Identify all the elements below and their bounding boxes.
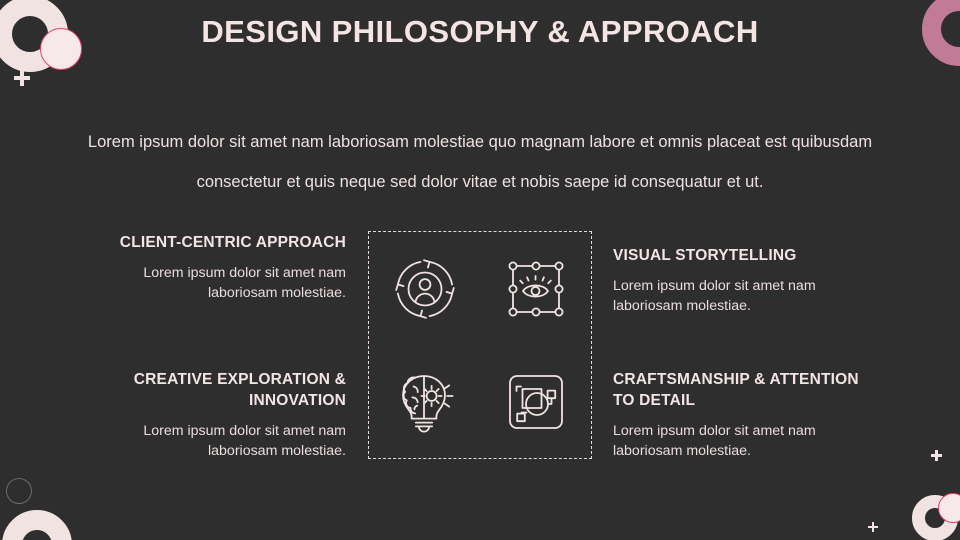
bottom-right-dot-decoration (938, 493, 960, 523)
icon-cell-creative-exploration (369, 345, 480, 458)
slide-canvas: DESIGN PHILOSOPHY & APPROACH Lorem ipsum… (0, 0, 960, 540)
feature-body: Lorem ipsum dolor sit amet nam laboriosa… (613, 276, 863, 316)
bottom-left-circle-decoration (6, 478, 32, 504)
feature-body: Lorem ipsum dolor sit amet nam laboriosa… (613, 421, 863, 461)
eye-bounding-box-icon (505, 258, 567, 320)
icon-cell-client-centric (369, 232, 480, 345)
feature-title: CRAFTSMANSHIP & ATTENTION TO DETAIL (613, 369, 863, 411)
feature-body: Lorem ipsum dolor sit amet nam laboriosa… (96, 421, 346, 461)
icon-cell-craftsmanship (480, 345, 591, 458)
feature-visual-storytelling: VISUAL STORYTELLING Lorem ipsum dolor si… (613, 245, 863, 316)
feature-body: Lorem ipsum dolor sit amet nam laboriosa… (96, 263, 346, 303)
feature-title: CLIENT-CENTRIC APPROACH (96, 232, 346, 253)
icon-grid (368, 231, 592, 459)
feature-creative-exploration-innovation: CREATIVE EXPLORATION & INNOVATION Lorem … (96, 369, 346, 461)
feature-title: CREATIVE EXPLORATION & INNOVATION (96, 369, 346, 411)
slide-intro-paragraph: Lorem ipsum dolor sit amet nam laboriosa… (62, 122, 898, 203)
feature-title: VISUAL STORYTELLING (613, 245, 863, 266)
slide-title: DESIGN PHILOSOPHY & APPROACH (0, 14, 960, 50)
bottom-right-ring-decoration (912, 495, 958, 540)
vector-artboard-icon (505, 371, 567, 433)
brain-lightbulb-gear-icon (393, 370, 457, 434)
bottom-right-plus-lower-icon (868, 522, 878, 532)
icon-cell-visual-storytelling (480, 232, 591, 345)
feature-client-centric-approach: CLIENT-CENTRIC APPROACH Lorem ipsum dolo… (96, 232, 346, 303)
bottom-left-ring-decoration (2, 510, 72, 540)
bottom-right-plus-upper-icon (931, 450, 942, 461)
top-left-plus-icon (14, 70, 30, 86)
user-cycle-icon (393, 257, 457, 321)
feature-craftsmanship-attention-to-detail: CRAFTSMANSHIP & ATTENTION TO DETAIL Lore… (613, 369, 863, 461)
